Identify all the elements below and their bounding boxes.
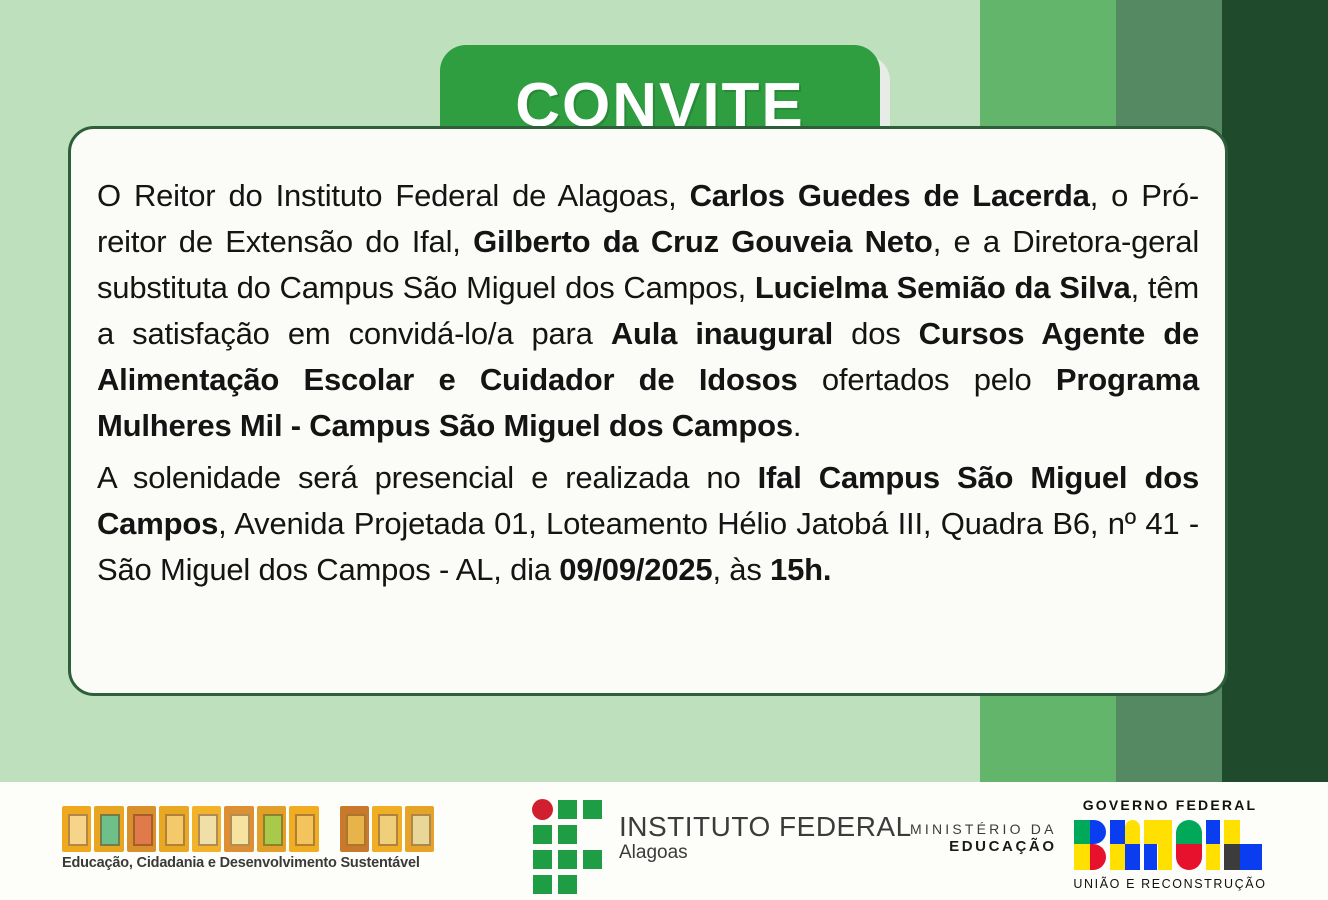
mulheres-mil-letter xyxy=(159,806,188,852)
brasil-color-block xyxy=(1206,820,1220,844)
mulheres-mil-letter-inner xyxy=(378,814,398,846)
p1-bold-diretora-name: Lucielma Semião da Silva xyxy=(755,270,1131,305)
instituto-federal-wordmark: INSTITUTO FEDERAL Alagoas xyxy=(619,812,912,864)
mulheres-mil-letter-inner xyxy=(133,814,153,846)
p1-text-5: dos xyxy=(833,316,919,351)
mulheres-mil-letter xyxy=(289,806,318,852)
brasil-color-block xyxy=(1206,844,1220,870)
p1-bold-reitor-name: Carlos Guedes de Lacerda xyxy=(690,178,1090,213)
mulheres-mil-letter xyxy=(340,806,369,852)
mulheres-mil-letter xyxy=(127,806,156,852)
brasil-color-block xyxy=(1176,820,1202,844)
ministerio-educacao-logo: MINISTÉRIO DA EDUCAÇÃO xyxy=(910,820,1057,856)
mulheres-mil-tagline: Educação, Cidadania e Desenvolvimento Su… xyxy=(62,855,434,871)
brasil-color-block xyxy=(1224,844,1240,870)
mulheres-mil-letter xyxy=(405,806,434,852)
mulheres-mil-logo: Educação, Cidadania e Desenvolvimento Su… xyxy=(62,804,434,871)
p1-text-6: ofertados pelo xyxy=(798,362,1056,397)
brasil-wordmark-icon xyxy=(1072,818,1268,874)
brasil-color-block xyxy=(1125,820,1140,844)
instituto-federal-square xyxy=(558,850,577,869)
brasil-color-block xyxy=(1090,820,1106,844)
background-stripe-dark xyxy=(1222,0,1328,782)
instituto-federal-line1: INSTITUTO FEDERAL xyxy=(619,812,912,842)
mulheres-mil-letter xyxy=(257,806,286,852)
brasil-color-block xyxy=(1144,820,1172,844)
instituto-federal-square xyxy=(533,875,552,894)
instituto-federal-square xyxy=(583,800,602,819)
mulheres-mil-letter xyxy=(94,806,123,852)
p1-bold-proreitor-name: Gilberto da Cruz Gouveia Neto xyxy=(473,224,933,259)
p2-text-1: A solenidade será presencial e realizada… xyxy=(97,460,758,495)
instituto-federal-square xyxy=(583,850,602,869)
governo-federal-bottom-label: UNIÃO E RECONSTRUÇÃO xyxy=(1070,876,1270,892)
brasil-color-block xyxy=(1090,844,1106,870)
instituto-federal-square xyxy=(533,825,552,844)
mulheres-mil-letter-inner xyxy=(198,814,218,846)
brasil-color-block xyxy=(1224,820,1240,844)
mulheres-mil-letter-inner xyxy=(165,814,185,846)
instituto-federal-square xyxy=(533,850,552,869)
mulheres-mil-wordmark xyxy=(62,804,434,852)
instituto-federal-logo: INSTITUTO FEDERAL Alagoas xyxy=(533,800,912,876)
p2-text-3: , às xyxy=(712,552,770,587)
mulheres-mil-letter xyxy=(192,806,221,852)
mulheres-mil-letter-inner xyxy=(100,814,120,846)
mulheres-mil-letter xyxy=(372,806,401,852)
ministerio-line1: MINISTÉRIO DA xyxy=(910,820,1057,838)
brasil-color-block xyxy=(1240,844,1262,870)
brasil-color-block xyxy=(1110,844,1125,870)
brasil-color-block xyxy=(1125,844,1140,870)
mulheres-mil-letter-inner xyxy=(230,814,250,846)
instituto-federal-grid-icon xyxy=(533,800,605,876)
paragraph-two: A solenidade será presencial e realizada… xyxy=(97,455,1199,593)
mulheres-mil-letter-inner xyxy=(295,814,315,846)
instituto-federal-line2: Alagoas xyxy=(619,842,912,864)
governo-federal-logo: GOVERNO FEDERAL UNIÃO E RECONSTRUÇÃO xyxy=(1070,796,1270,892)
brasil-color-block xyxy=(1074,844,1090,870)
brasil-color-block xyxy=(1158,844,1172,870)
governo-federal-top-label: GOVERNO FEDERAL xyxy=(1070,796,1270,814)
mulheres-mil-letter-inner xyxy=(411,814,431,846)
brasil-color-block xyxy=(1144,844,1157,870)
invitation-body: O Reitor do Instituto Federal de Alagoas… xyxy=(97,173,1199,593)
p2-bold-date: 09/09/2025 xyxy=(559,552,712,587)
paragraph-one: O Reitor do Instituto Federal de Alagoas… xyxy=(97,173,1199,449)
instituto-federal-square xyxy=(558,825,577,844)
brasil-color-block xyxy=(1074,820,1090,844)
p2-bold-time: 15h. xyxy=(770,552,831,587)
p1-text-7: . xyxy=(793,408,801,443)
mulheres-mil-letter-inner xyxy=(68,814,88,846)
p1-bold-aula-inaugural: Aula inaugural xyxy=(611,316,833,351)
p1-text-1: O Reitor do Instituto Federal de Alagoas… xyxy=(97,178,690,213)
invitation-card: O Reitor do Instituto Federal de Alagoas… xyxy=(68,126,1228,696)
brasil-color-block xyxy=(1110,820,1125,844)
mulheres-mil-letter-gap xyxy=(322,806,337,852)
brasil-color-block xyxy=(1176,844,1202,870)
mulheres-mil-letter xyxy=(224,806,253,852)
mulheres-mil-letter xyxy=(62,806,91,852)
instituto-federal-square xyxy=(558,800,577,819)
mulheres-mil-letter-inner xyxy=(346,814,366,846)
instituto-federal-square xyxy=(558,875,577,894)
mulheres-mil-letter-inner xyxy=(263,814,283,846)
instituto-federal-red-dot xyxy=(532,799,553,820)
invitation-poster: CONVITE O Reitor do Instituto Federal de… xyxy=(0,0,1328,900)
footer-logo-bar: Educação, Cidadania e Desenvolvimento Su… xyxy=(0,782,1328,900)
ministerio-line2: EDUCAÇÃO xyxy=(910,838,1057,856)
